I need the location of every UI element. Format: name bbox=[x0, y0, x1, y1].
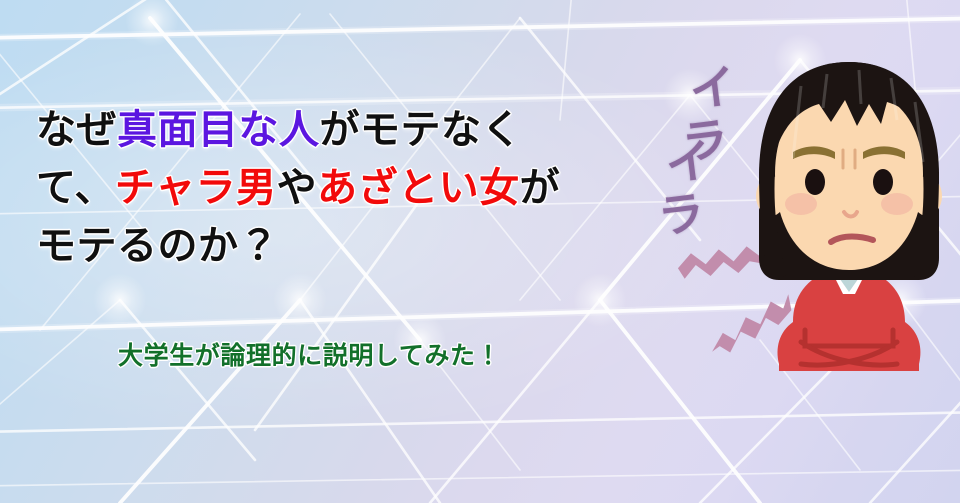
cheek-right bbox=[881, 193, 913, 215]
title-card: イ ラ イ ラ bbox=[0, 0, 960, 503]
headline-seg-highlight-red: チャラ男 bbox=[115, 166, 277, 210]
headline-line-2: て、チャラ男やあざとい女が bbox=[36, 159, 646, 217]
eye-left bbox=[805, 169, 825, 195]
iraira-onomatopoeia-second: イ ラ bbox=[649, 135, 721, 244]
headline-seg-plain: モテるのか？ bbox=[36, 224, 279, 268]
iraira-char-3: イ bbox=[663, 135, 715, 191]
headline-seg-plain: が bbox=[520, 166, 561, 210]
headline-seg-highlight-purple: 真面目な人 bbox=[117, 108, 320, 152]
sweater bbox=[778, 268, 921, 371]
subtitle: 大学生が論理的に説明してみた！ bbox=[118, 336, 501, 372]
headline-seg-plain: や bbox=[277, 166, 318, 210]
headline-line-3: モテるのか？ bbox=[36, 217, 646, 275]
headline-seg-plain: がモテなく bbox=[320, 108, 523, 152]
mesh-node-glow bbox=[273, 273, 327, 327]
headline-line-1: なぜ真面目な人がモテなく bbox=[36, 101, 646, 159]
mesh-node-glow bbox=[573, 273, 627, 327]
cheek-left bbox=[785, 193, 817, 215]
headline-seg-highlight-red: あざとい女 bbox=[317, 166, 520, 210]
headline-seg-plain: て、 bbox=[36, 166, 115, 210]
mesh-node-glow bbox=[125, 0, 179, 47]
headline-block: なぜ真面目な人がモテなく て、チャラ男やあざとい女が モテるのか？ bbox=[36, 101, 646, 275]
eye-right bbox=[873, 169, 893, 195]
mesh-node-glow bbox=[93, 273, 147, 327]
iraira-char-4: ラ bbox=[655, 185, 721, 243]
headline-seg-plain: なぜ bbox=[36, 108, 117, 152]
annoyed-woman-illustration bbox=[731, 46, 960, 371]
